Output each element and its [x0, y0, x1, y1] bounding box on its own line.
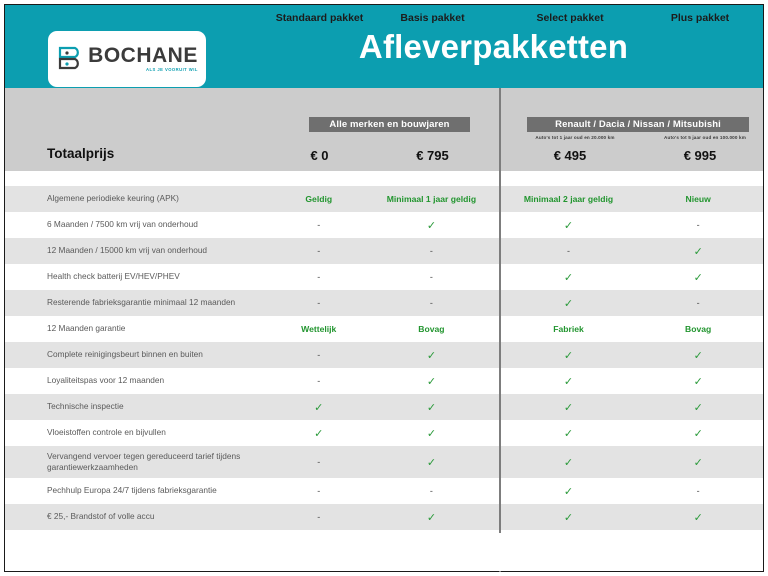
afleverpakketten-sheet: BOCHANE ALS JE VOORUIT WIL Afleverpakket… — [0, 0, 768, 576]
column-title-select: Select pakket — [505, 12, 635, 24]
cell-plus: Bovag — [633, 324, 763, 334]
cell-plus: ✓ — [633, 349, 763, 362]
cell-select: ✓ — [504, 349, 634, 362]
cell-select: ✓ — [504, 219, 634, 232]
check-icon: ✓ — [427, 512, 436, 524]
dash-icon: - — [430, 272, 433, 282]
cell-plus: ✓ — [633, 427, 763, 440]
dash-icon: - — [317, 298, 320, 308]
cell-text: Minimaal 2 jaar geldig — [524, 194, 613, 204]
check-icon: ✓ — [564, 402, 573, 414]
group-bar-renault-dacia-nissan-mitsubishi: Renault / Dacia / Nissan / Mitsubishi — [527, 117, 749, 132]
dash-icon: - — [317, 220, 320, 230]
check-icon: ✓ — [314, 402, 323, 414]
row-label: Pechhulp Europa 24/7 tijdens fabrieksgar… — [5, 485, 262, 496]
cell-basis: ✓ — [375, 456, 488, 469]
cell-standaard: ✓ — [262, 401, 375, 414]
cell-standaard: - — [262, 486, 375, 496]
cell-text: Minimaal 1 jaar geldig — [387, 194, 476, 204]
cell-standaard: - — [262, 376, 375, 386]
row-label: € 25,- Brandstof of volle accu — [5, 511, 262, 522]
cell-plus: ✓ — [633, 401, 763, 414]
row-label: 6 Maanden / 7500 km vrij van onderhoud — [5, 219, 262, 230]
table-row: Technische inspectie✓✓✓✓ — [5, 394, 763, 420]
cell-plus: ✓ — [633, 511, 763, 524]
cell-standaard: - — [262, 246, 375, 256]
table-row: Loyaliteitspas voor 12 maanden-✓✓✓ — [5, 368, 763, 394]
cell-standaard: Geldig — [262, 194, 375, 204]
row-label: Complete reinigingsbeurt binnen en buite… — [5, 349, 262, 360]
dash-icon: - — [317, 457, 320, 467]
table-row: € 25,- Brandstof of volle accu-✓✓✓ — [5, 504, 763, 530]
cell-select: ✓ — [504, 485, 634, 498]
cell-standaard: - — [262, 350, 375, 360]
feature-rows: Algemene periodieke keuring (APK)GeldigM… — [5, 186, 763, 530]
cell-basis: - — [375, 486, 488, 496]
cell-standaard: - — [262, 512, 375, 522]
dash-icon: - — [317, 512, 320, 522]
check-icon: ✓ — [564, 457, 573, 469]
cell-standaard: - — [262, 298, 375, 308]
row-label: Vloeistoffen controle en bijvullen — [5, 427, 262, 438]
price-select: € 495 — [505, 148, 635, 163]
dash-icon: - — [317, 272, 320, 282]
cell-basis: ✓ — [375, 401, 488, 414]
check-icon: ✓ — [694, 428, 703, 440]
dash-icon: - — [317, 486, 320, 496]
totaalprijs-label: Totaalprijs — [47, 146, 114, 161]
footer-strip — [5, 533, 763, 571]
cell-basis: ✓ — [375, 511, 488, 524]
brand-logo: BOCHANE ALS JE VOORUIT WIL — [48, 31, 206, 87]
check-icon: ✓ — [427, 402, 436, 414]
check-icon: ✓ — [427, 376, 436, 388]
cell-text: Bovag — [418, 324, 444, 334]
table-row: Vloeistoffen controle en bijvullen✓✓✓✓ — [5, 420, 763, 446]
group-bar-alle-merken: Alle merken en bouwjaren — [309, 117, 470, 132]
table-row: Complete reinigingsbeurt binnen en buite… — [5, 342, 763, 368]
dash-icon: - — [430, 246, 433, 256]
table-row: Pechhulp Europa 24/7 tijdens fabrieksgar… — [5, 478, 763, 504]
cell-text: Geldig — [305, 194, 332, 204]
row-label: Health check batterij EV/HEV/PHEV — [5, 271, 262, 282]
cell-select: ✓ — [504, 511, 634, 524]
check-icon: ✓ — [564, 376, 573, 388]
dash-icon: - — [317, 376, 320, 386]
header-gap — [5, 171, 763, 186]
cell-basis: ✓ — [375, 349, 488, 362]
cell-basis: Minimaal 1 jaar geldig — [375, 194, 488, 204]
check-icon: ✓ — [427, 457, 436, 469]
check-icon: ✓ — [564, 486, 573, 498]
cell-select: ✓ — [504, 375, 634, 388]
table-row: 12 Maanden / 15000 km vrij van onderhoud… — [5, 238, 763, 264]
column-title-standaard: Standaard pakket — [263, 12, 376, 24]
dash-icon: - — [567, 246, 570, 256]
cell-select: Minimaal 2 jaar geldig — [504, 194, 634, 204]
cell-text: Wettelijk — [301, 324, 336, 334]
row-label: 12 Maanden / 15000 km vrij van onderhoud — [5, 245, 262, 256]
row-label: Algemene periodieke keuring (APK) — [5, 193, 262, 204]
cell-select: ✓ — [504, 271, 634, 284]
price-standaard: € 0 — [263, 148, 376, 163]
check-icon: ✓ — [694, 246, 703, 258]
check-icon: ✓ — [564, 350, 573, 362]
check-icon: ✓ — [564, 220, 573, 232]
cell-standaard: - — [262, 457, 375, 467]
check-icon: ✓ — [564, 298, 573, 310]
cell-plus: ✓ — [633, 271, 763, 284]
check-icon: ✓ — [694, 272, 703, 284]
check-icon: ✓ — [694, 402, 703, 414]
check-icon: ✓ — [427, 350, 436, 362]
row-label: Vervangend vervoer tegen gereduceerd tar… — [5, 451, 262, 473]
cell-plus: ✓ — [633, 245, 763, 258]
bochane-mark-icon — [56, 44, 82, 74]
cell-basis: ✓ — [375, 375, 488, 388]
dash-icon: - — [430, 298, 433, 308]
cell-basis: - — [375, 298, 488, 308]
cell-basis: ✓ — [375, 427, 488, 440]
row-label: Loyaliteitspas voor 12 maanden — [5, 375, 262, 386]
cell-text: Nieuw — [686, 194, 711, 204]
cell-standaard: Wettelijk — [262, 324, 375, 334]
dash-icon: - — [697, 298, 700, 308]
group-divider — [499, 88, 501, 572]
fineprint-select: Auto's tot 1 jaar oud en 20.000 km — [510, 135, 640, 140]
cell-standaard: ✓ — [262, 427, 375, 440]
table-row: Vervangend vervoer tegen gereduceerd tar… — [5, 446, 763, 478]
cell-select: ✓ — [504, 297, 634, 310]
cell-select: ✓ — [504, 401, 634, 414]
table-row: Algemene periodieke keuring (APK)GeldigM… — [5, 186, 763, 212]
table-row: Resterende fabrieksgarantie minimaal 12 … — [5, 290, 763, 316]
check-icon: ✓ — [694, 350, 703, 362]
cell-select: - — [504, 246, 634, 256]
cell-basis: ✓ — [375, 219, 488, 232]
dash-icon: - — [430, 486, 433, 496]
dash-icon: - — [317, 246, 320, 256]
cell-plus: ✓ — [633, 375, 763, 388]
table-row: 12 Maanden garantieWettelijkBovagFabriek… — [5, 316, 763, 342]
cell-standaard: - — [262, 220, 375, 230]
check-icon: ✓ — [564, 428, 573, 440]
cell-plus: ✓ — [633, 456, 763, 469]
check-icon: ✓ — [564, 272, 573, 284]
cell-basis: - — [375, 246, 488, 256]
row-label: 12 Maanden garantie — [5, 323, 262, 334]
row-label: Resterende fabrieksgarantie minimaal 12 … — [5, 297, 262, 308]
cell-select: ✓ — [504, 427, 634, 440]
row-label: Technische inspectie — [5, 401, 262, 412]
table-row: 6 Maanden / 7500 km vrij van onderhoud-✓… — [5, 212, 763, 238]
cell-plus: Nieuw — [633, 194, 763, 204]
cell-basis: Bovag — [375, 324, 488, 334]
check-icon: ✓ — [427, 428, 436, 440]
brand-name: BOCHANE — [88, 45, 198, 66]
check-icon: ✓ — [314, 428, 323, 440]
cell-select: ✓ — [504, 456, 634, 469]
dash-icon: - — [697, 220, 700, 230]
dash-icon: - — [697, 486, 700, 496]
check-icon: ✓ — [427, 220, 436, 232]
table-row: Health check batterij EV/HEV/PHEV--✓✓ — [5, 264, 763, 290]
cell-plus: - — [633, 220, 763, 230]
column-title-plus: Plus pakket — [635, 12, 765, 24]
price-plus: € 995 — [635, 148, 765, 163]
cell-text: Fabriek — [553, 324, 584, 334]
column-title-basis: Basis pakket — [376, 12, 489, 24]
dash-icon: - — [317, 350, 320, 360]
cell-plus: - — [633, 486, 763, 496]
check-icon: ✓ — [694, 512, 703, 524]
check-icon: ✓ — [564, 512, 573, 524]
cell-plus: - — [633, 298, 763, 308]
cell-text: Bovag — [685, 324, 711, 334]
fineprint-plus: Auto's tot 5 jaar oud en 100.000 km — [640, 135, 768, 140]
brand-tagline: ALS JE VOORUIT WIL — [146, 68, 198, 72]
cell-standaard: - — [262, 272, 375, 282]
price-basis: € 795 — [376, 148, 489, 163]
check-icon: ✓ — [694, 457, 703, 469]
check-icon: ✓ — [694, 376, 703, 388]
cell-basis: - — [375, 272, 488, 282]
cell-select: Fabriek — [504, 324, 634, 334]
